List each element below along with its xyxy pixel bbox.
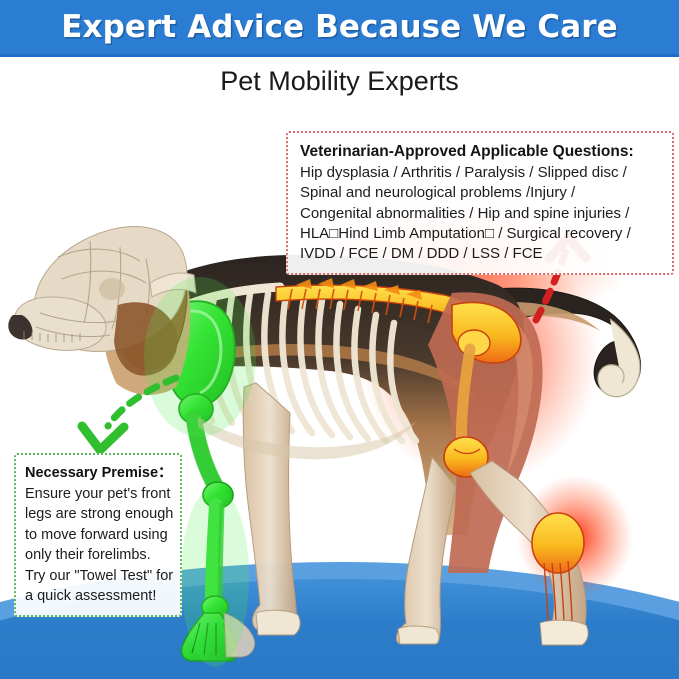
callout-veterinarian-questions: Veterinarian-Approved Applicable Questio… — [286, 131, 674, 275]
callout-premise-line-1: Ensure your pet's front — [25, 484, 173, 505]
callout-premise-line-2: legs are strong enough — [25, 504, 173, 525]
callout-questions-line-1: Hip dysplasia / Arthritis / Paralysis / … — [300, 163, 661, 183]
callout-questions-line-3: Congenital abnormalities / Hip and spine… — [300, 204, 661, 224]
callout-questions-title: Veterinarian-Approved Applicable Questio… — [300, 142, 661, 163]
header-banner: Expert Advice Because We Care — [0, 0, 679, 57]
callout-premise-line-5: Try our "Towel Test" for — [25, 566, 173, 587]
callout-premise-line-4: only their forelimbs. — [25, 545, 173, 566]
callout-premise-line-3: to move forward using — [25, 525, 173, 546]
callout-questions-line-4: HLA□Hind Limb Amputation□ / Surgical rec… — [300, 224, 661, 244]
page-title: Expert Advice Because We Care — [61, 9, 618, 45]
callout-questions-line-2: Spinal and neurological problems /Injury… — [300, 183, 661, 203]
callout-premise-line-6: a quick assessment! — [25, 586, 173, 607]
callout-questions-line-5: IVDD / FCE / DM / DDD / LSS / FCE — [300, 244, 661, 264]
poster-root: Expert Advice Because We Care Pet Mobili… — [0, 0, 679, 679]
callout-premise-title: Necessary Premise： — [25, 463, 173, 484]
callout-necessary-premise: Necessary Premise： Ensure your pet's fro… — [14, 453, 182, 617]
